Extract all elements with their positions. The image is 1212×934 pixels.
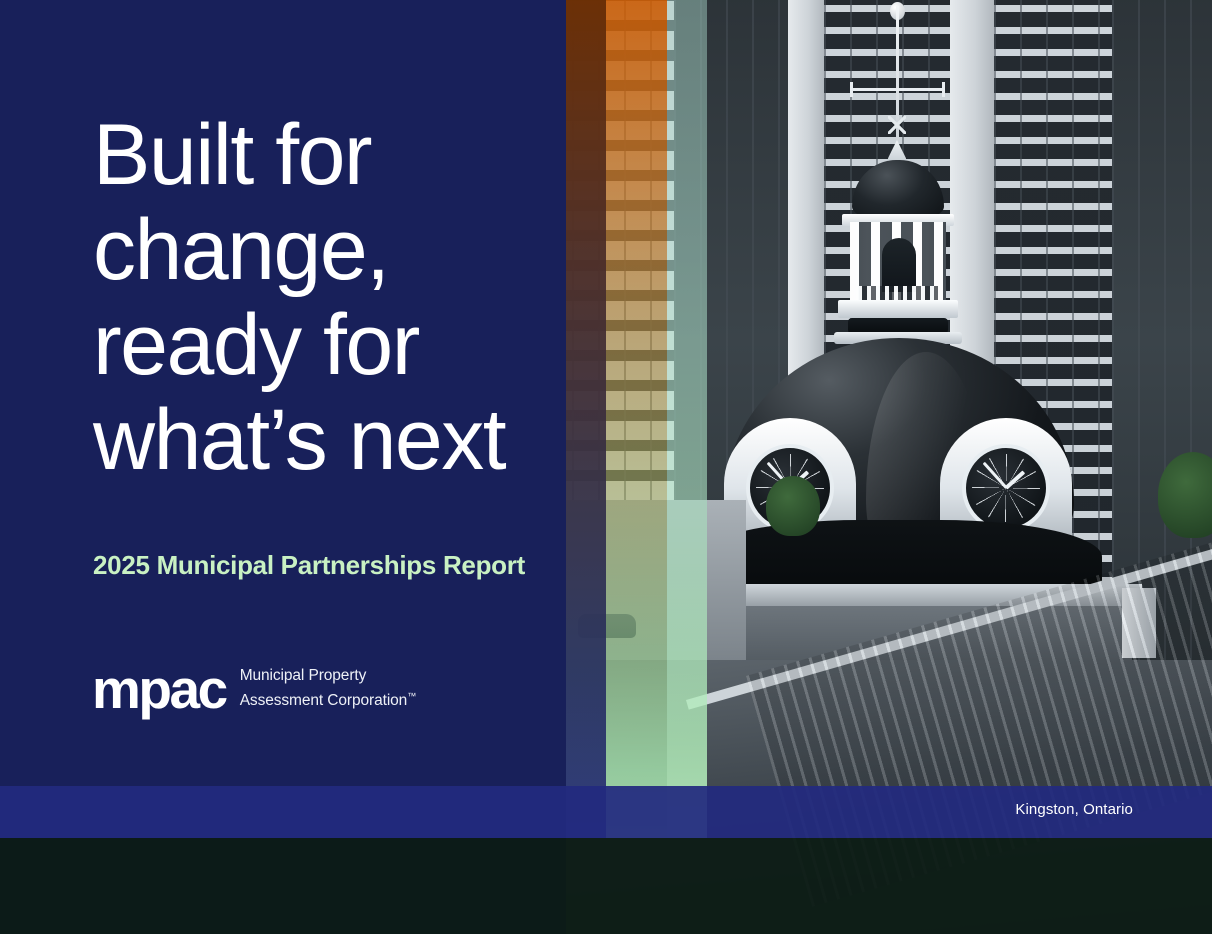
- weathervane-crossbar: [852, 88, 944, 91]
- mpac-wordmark: mpac: [92, 666, 226, 712]
- headline-line-3: ready for: [93, 298, 553, 393]
- gradient-strip-dark-seam: [566, 0, 606, 838]
- upper-dome: [852, 160, 944, 222]
- weathervane-tip-right: [942, 82, 945, 97]
- headline-line-1: Built for: [93, 108, 553, 203]
- tree-foliage: [766, 476, 820, 536]
- weathervane-ornament: [888, 116, 906, 134]
- mpac-tagline-line-1: Municipal Property: [240, 667, 367, 684]
- cupola-arched-opening: [882, 238, 916, 292]
- bottom-green-band: [0, 838, 1212, 934]
- headline-line-4: what’s next: [93, 393, 553, 488]
- mpac-logo: mpac Municipal Property Assessment Corpo…: [92, 666, 416, 712]
- title-panel: Built for change, ready for what’s next …: [0, 0, 566, 838]
- mpac-tagline: Municipal Property Assessment Corporatio…: [240, 666, 416, 711]
- headline-line-2: change,: [93, 203, 553, 298]
- page-title: Built for change, ready for what’s next: [93, 108, 553, 488]
- tree-foliage: [1158, 452, 1212, 538]
- report-subtitle: 2025 Municipal Partnerships Report: [93, 550, 525, 581]
- cupola-base: [838, 300, 958, 318]
- mpac-tagline-line-2: Assessment Corporation: [240, 693, 408, 710]
- weathervane-tip-left: [850, 82, 853, 97]
- report-cover-page: Built for change, ready for what’s next …: [0, 0, 1212, 934]
- photo-caption: Kingston, Ontario: [1015, 801, 1133, 818]
- trademark-symbol: ™: [407, 691, 416, 701]
- gradient-strip-teal: [667, 0, 707, 838]
- clock-face: [962, 444, 1050, 532]
